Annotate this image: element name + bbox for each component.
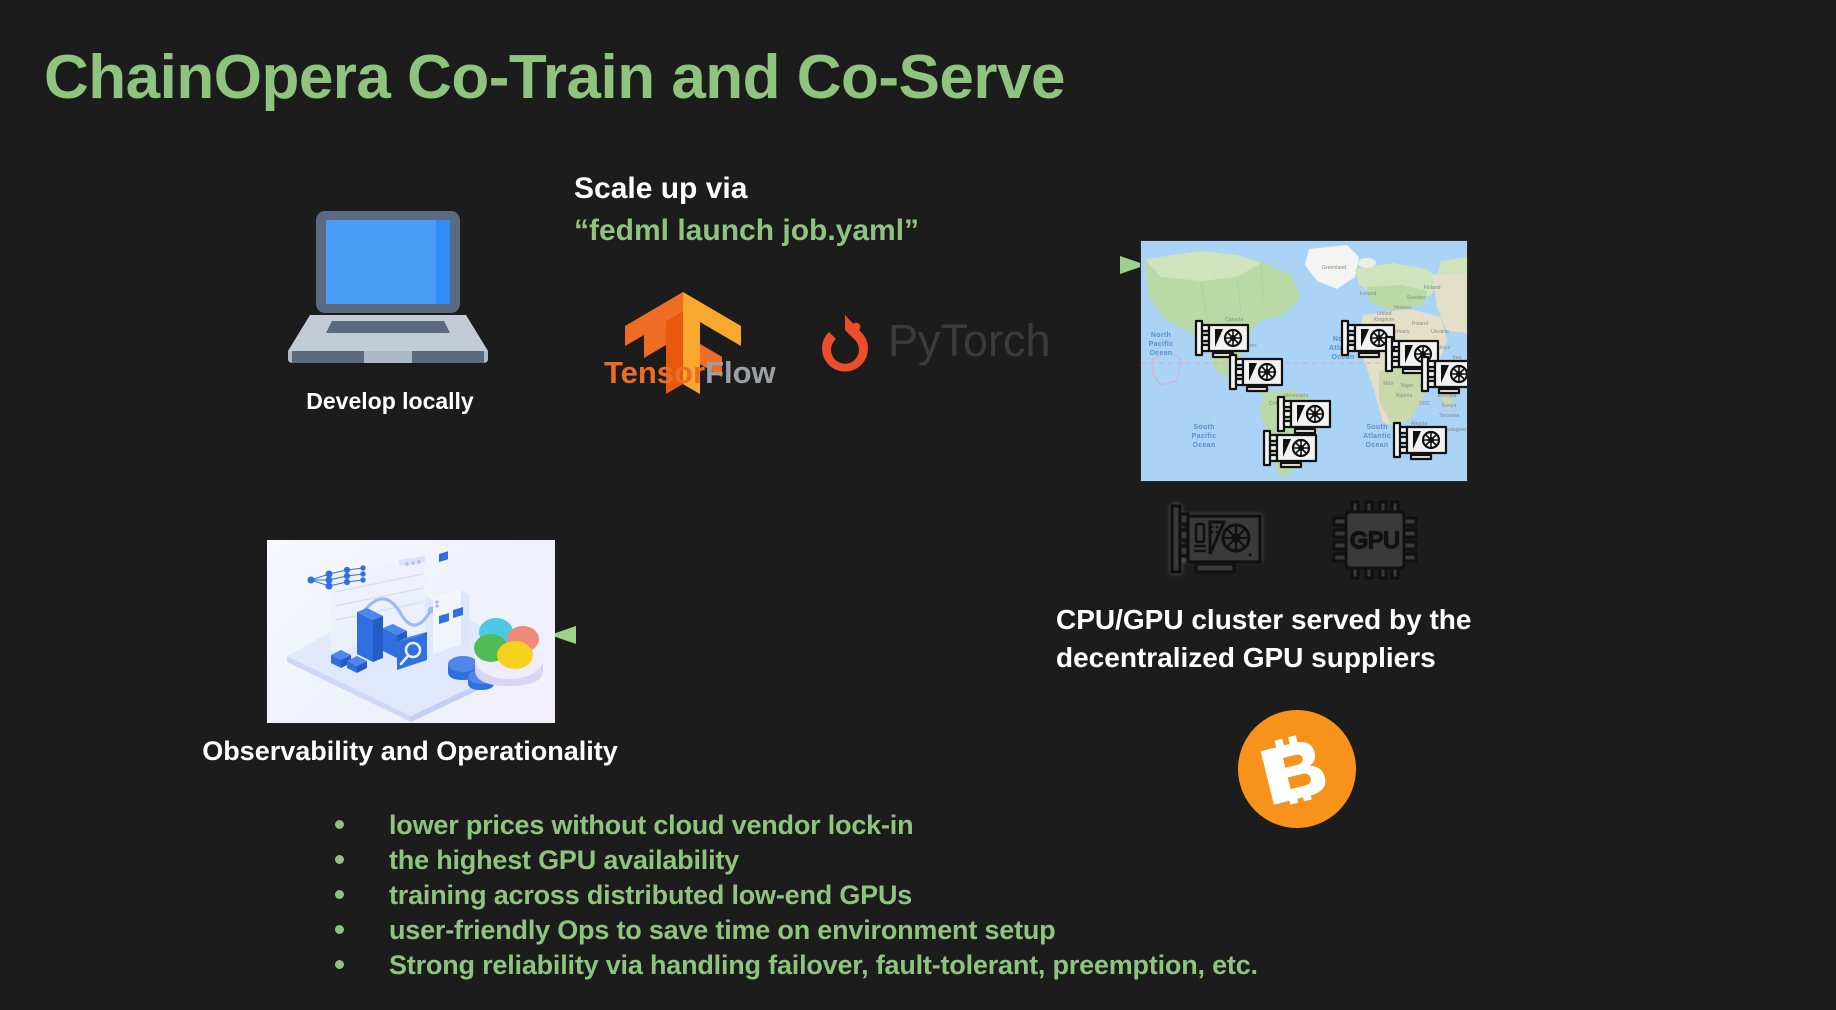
map-country-label: Sweden xyxy=(1399,295,1433,301)
bullet-dot-icon xyxy=(335,855,344,864)
gpu-card-pin-icon xyxy=(1261,427,1319,469)
list-item-label: lower prices without cloud vendor lock-i… xyxy=(389,810,913,841)
slide-canvas: ChainOpera Co-Train and Co-Serve Scale u… xyxy=(0,0,1836,1010)
gpu-chip-icon: GPU xyxy=(1322,500,1426,580)
list-item-label: the highest GPU availability xyxy=(389,845,739,876)
list-item: lower prices without cloud vendor lock-i… xyxy=(335,810,1258,844)
map-ocean-label-north-pacific: NorthPacificOcean xyxy=(1140,331,1187,358)
list-item: Strong reliability via handling failover… xyxy=(335,950,1258,984)
scale-up-caption: Scale up via “fedml launch job.yaml” xyxy=(574,168,919,252)
laptop-icon xyxy=(288,205,488,365)
list-item: the highest GPU availability xyxy=(335,845,1258,879)
graphics-card-icon xyxy=(1162,500,1270,578)
map-country-label: Iceland xyxy=(1347,291,1389,297)
list-item-label: training across distributed low-end GPUs xyxy=(389,880,912,911)
map-country-label: Nigeria xyxy=(1391,393,1417,399)
gpu-chip-label: GPU xyxy=(1350,527,1400,553)
map-country-label: Kenya xyxy=(1439,403,1459,409)
tensorflow-word-tensor: Tensor xyxy=(604,355,705,390)
gpu-card-pin-icon xyxy=(1391,419,1449,461)
develop-locally-label: Develop locally xyxy=(240,388,540,415)
bullet-dot-icon xyxy=(335,925,344,934)
list-item-label: Strong reliability via handling failover… xyxy=(389,950,1258,981)
list-item: training across distributed low-end GPUs xyxy=(335,880,1258,914)
list-item-label: user-friendly Ops to save time on enviro… xyxy=(389,915,1055,946)
bullet-dot-icon xyxy=(335,890,344,899)
map-country-label: Greenland xyxy=(1311,265,1357,271)
tensorflow-wordmark: TensorFlow xyxy=(604,355,764,391)
arrow-cluster-to-observability xyxy=(548,620,1138,650)
arrow-develop-to-cluster xyxy=(490,250,1150,280)
page-title: ChainOpera Co-Train and Co-Serve xyxy=(44,42,1065,113)
list-item: user-friendly Ops to save time on enviro… xyxy=(335,915,1258,949)
benefits-list: lower prices without cloud vendor lock-i… xyxy=(335,810,1258,985)
bullet-dot-icon xyxy=(335,820,344,829)
map-country-label: DRC xyxy=(1417,401,1433,407)
map-ocean-label-south-pacific: SouthPacificOcean xyxy=(1175,423,1233,450)
scale-caption-line1: Scale up via xyxy=(574,168,919,210)
analytics-dashboard-illustration xyxy=(267,540,555,723)
map-country-label: Finland xyxy=(1415,285,1449,291)
map-country-label: Mali xyxy=(1379,381,1397,387)
pytorch-logo xyxy=(812,313,878,379)
map-country-label: Poland xyxy=(1405,321,1435,327)
scale-caption-line2: “fedml launch job.yaml” xyxy=(574,210,919,252)
gpu-card-pin-icon xyxy=(1227,351,1285,393)
map-country-label: Niger xyxy=(1397,383,1417,389)
world-map: NorthPacificOcean NorthAtlanticOcean Sou… xyxy=(1140,240,1468,482)
tensorflow-word-flow: Flow xyxy=(705,355,776,390)
pytorch-wordmark: PyTorch xyxy=(888,315,1051,367)
bullet-dot-icon xyxy=(335,960,344,969)
gpu-card-pin-icon xyxy=(1419,353,1468,395)
observability-label: Observability and Operationality xyxy=(130,736,690,767)
